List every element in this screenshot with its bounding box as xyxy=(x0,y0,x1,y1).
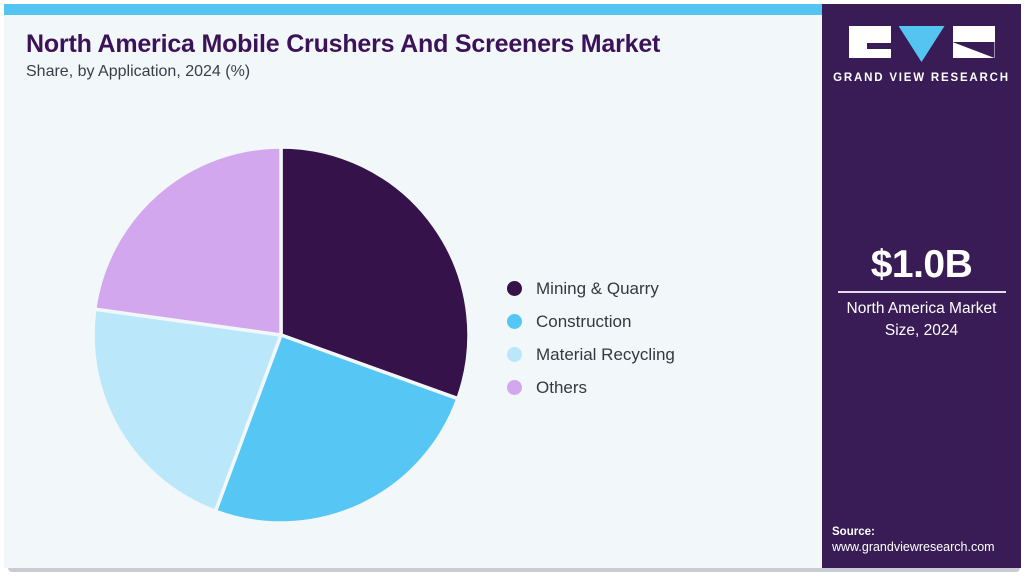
pie-chart-svg xyxy=(89,143,473,527)
legend-item-material-recycling[interactable]: Material Recycling xyxy=(507,338,675,371)
source-url[interactable]: www.grandviewresearch.com xyxy=(832,540,1021,554)
legend-swatch-icon xyxy=(507,380,522,395)
page-subtitle: Share, by Application, 2024 (%) xyxy=(26,63,250,81)
top-accent-bar xyxy=(4,4,822,15)
market-size-caption: North America Market Size, 2024 xyxy=(828,298,1015,342)
page-title: North America Mobile Crushers And Screen… xyxy=(26,30,660,59)
brand-sidebar: GRAND VIEW RESEARCH $1.0B North America … xyxy=(822,4,1021,568)
pie-chart xyxy=(89,143,473,527)
chart-legend: Mining & Quarry Construction Material Re… xyxy=(507,272,675,404)
pie-slice[interactable] xyxy=(95,147,281,335)
legend-item-mining-quarry[interactable]: Mining & Quarry xyxy=(507,272,675,305)
legend-label: Material Recycling xyxy=(536,345,675,365)
pie-slice-group xyxy=(93,147,469,523)
legend-label: Others xyxy=(536,378,587,398)
source-label: Source: xyxy=(832,526,1021,538)
chart-panel: North America Mobile Crushers And Screen… xyxy=(4,4,822,568)
market-size-value: $1.0B xyxy=(822,243,1021,287)
legend-item-construction[interactable]: Construction xyxy=(507,305,675,338)
source-block: Source: www.grandviewresearch.com xyxy=(832,526,1021,554)
legend-swatch-icon xyxy=(507,314,522,329)
legend-swatch-icon xyxy=(507,347,522,362)
logo-marks xyxy=(849,26,995,58)
logo-triangle-v-icon xyxy=(899,26,945,62)
stat-divider xyxy=(838,291,1006,293)
legend-item-others[interactable]: Others xyxy=(507,371,675,404)
chart-card-frame: North America Mobile Crushers And Screen… xyxy=(0,0,1025,576)
grand-view-research-logo: GRAND VIEW RESEARCH xyxy=(822,26,1021,84)
legend-swatch-icon xyxy=(507,281,522,296)
logo-letter-g-icon xyxy=(849,26,891,58)
legend-label: Mining & Quarry xyxy=(536,279,659,299)
logo-wordmark: GRAND VIEW RESEARCH xyxy=(822,72,1021,84)
legend-label: Construction xyxy=(536,312,631,332)
logo-letter-g-notch-icon xyxy=(867,43,891,49)
